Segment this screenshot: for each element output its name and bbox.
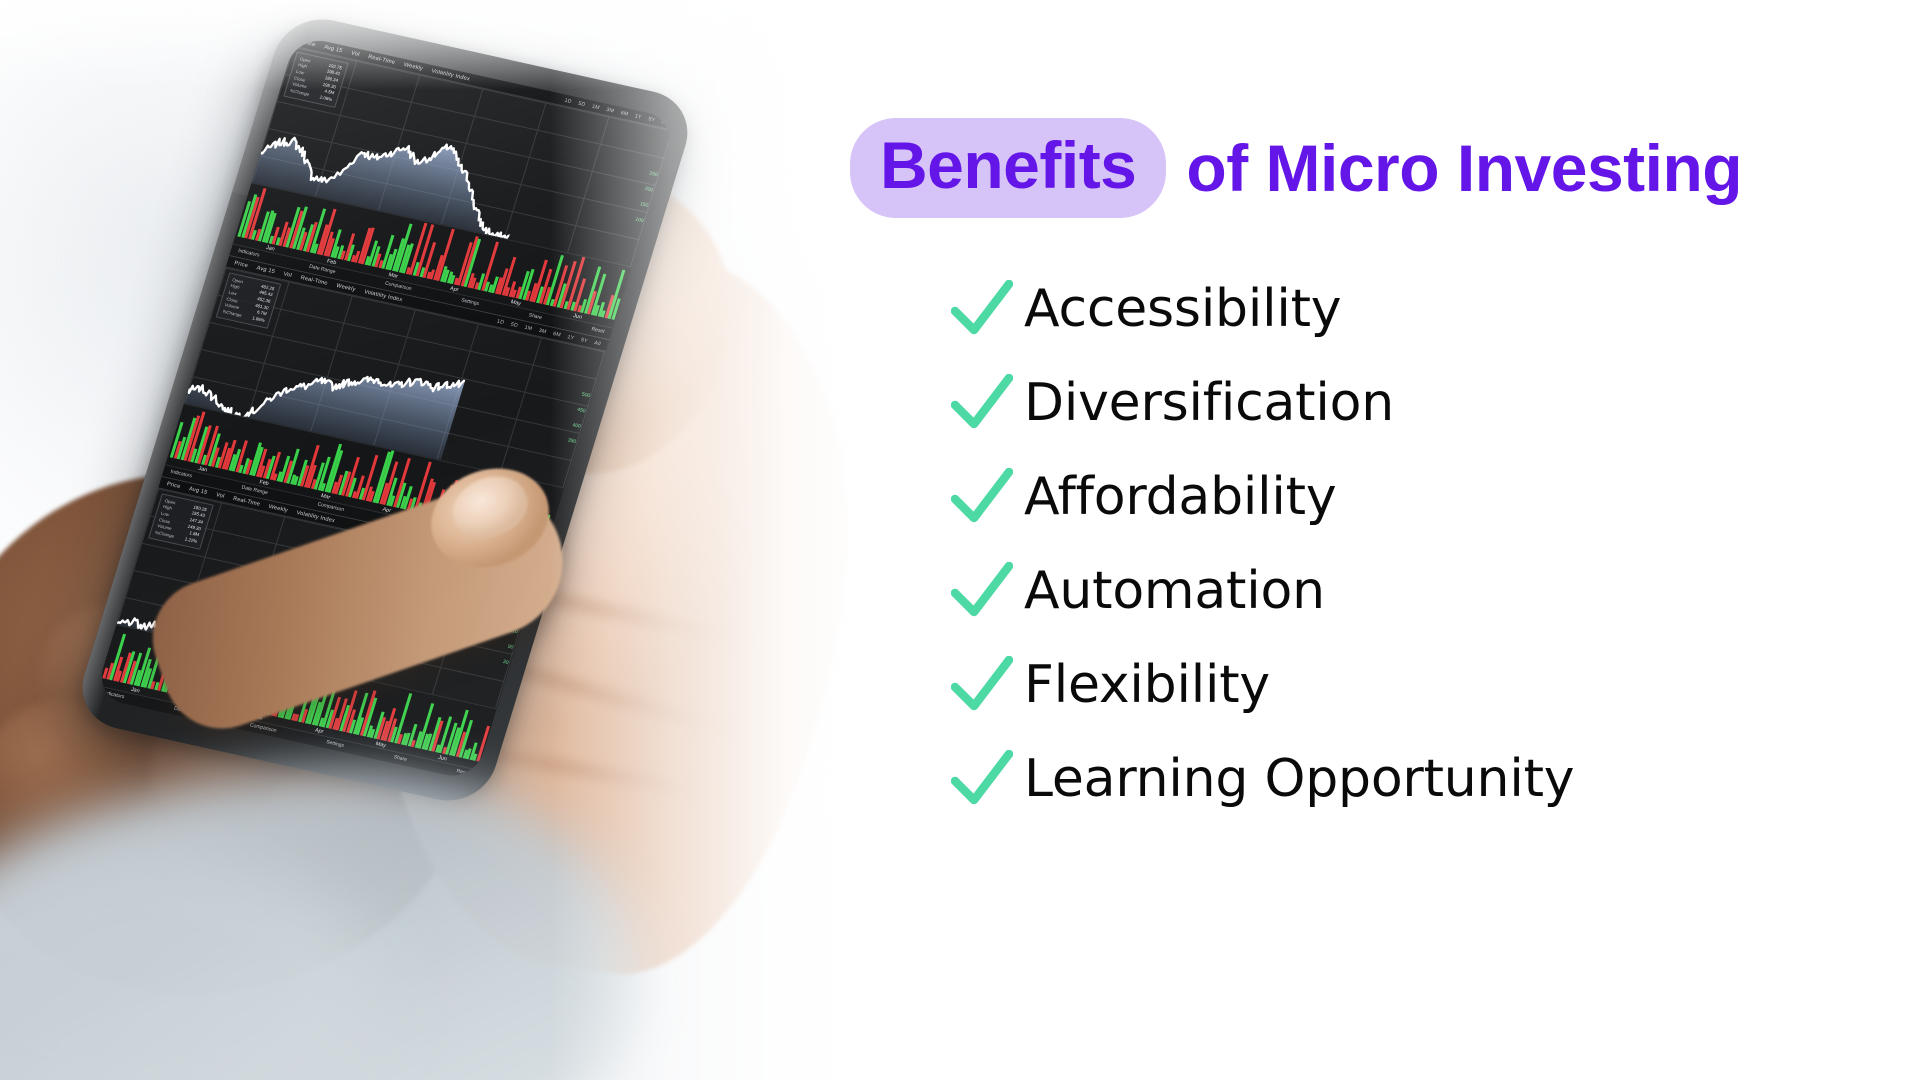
check-icon — [940, 374, 1024, 432]
y-tick: 200 — [644, 186, 654, 194]
check-icon — [940, 562, 1024, 620]
stat-value: 1.86% — [251, 315, 265, 324]
timeframe-5d[interactable]: 5D — [577, 101, 586, 108]
y-tick: 500 — [581, 391, 591, 399]
bottom-item-settings[interactable]: Settings — [460, 297, 479, 307]
timeframe-1m[interactable]: 1M — [591, 104, 600, 111]
toolbar-item-vol[interactable]: Vol — [215, 492, 225, 500]
list-item[interactable]: Accessibility — [940, 262, 1890, 356]
toolbar-item-vol[interactable]: Vol — [350, 50, 360, 58]
list-item[interactable]: Automation — [940, 544, 1890, 638]
timeframe-1y[interactable]: 1Y — [634, 113, 642, 120]
timeframe-all[interactable]: All — [593, 340, 601, 347]
timeframe-1d[interactable]: 1D — [564, 98, 573, 105]
bottom-item-share[interactable]: Share — [528, 312, 543, 321]
bottom-item-settings[interactable]: Settings — [325, 739, 344, 749]
y-tick: 30 — [502, 659, 509, 666]
y-tick: 350 — [567, 437, 577, 445]
toolbar-item-avg[interactable]: Avg 15 — [323, 44, 343, 54]
y-tick: 250 — [649, 170, 659, 178]
check-icon — [940, 656, 1024, 714]
timeframe-3m[interactable]: 3M — [538, 328, 547, 335]
timeframe-1d[interactable]: 1D — [496, 319, 505, 326]
badge-label: Benefits — [880, 128, 1136, 202]
stat-value: 1.22% — [184, 536, 198, 545]
timeframe-3m[interactable]: 3M — [605, 107, 614, 114]
volume-bar — [476, 725, 490, 761]
toolbar-item-avg[interactable]: Avg 15 — [256, 265, 276, 275]
toolbar-item-weekly[interactable]: Weekly — [335, 283, 356, 293]
bottom-item-indicators[interactable]: Indicators — [237, 248, 260, 258]
bottom-item-reset[interactable]: Reset — [456, 768, 471, 777]
timeframe-6m[interactable]: 6M — [620, 110, 629, 117]
content-panel: Benefits of Micro Investing Accessibilit… — [830, 0, 1920, 1080]
toolbar-item-avg[interactable]: Avg 15 — [188, 486, 208, 496]
photo-panel: Price Avg 15 Vol Real-Time Weekly Volati… — [0, 0, 880, 1080]
timeframe-6m[interactable]: 6M — [552, 331, 561, 338]
list-item-label: Diversification — [1024, 373, 1394, 433]
title-badge: Benefits — [850, 118, 1166, 218]
list-item[interactable]: Diversification — [940, 356, 1890, 450]
bottom-item-reset[interactable]: Reset — [591, 326, 606, 335]
list-item-label: Affordability — [1024, 467, 1336, 527]
list-item[interactable]: Flexibility — [940, 638, 1890, 732]
bottom-item-indicators[interactable]: Indicators — [170, 469, 193, 479]
list-item[interactable]: Affordability — [940, 450, 1890, 544]
y-tick: 100 — [634, 216, 644, 224]
bottom-item-comparison[interactable]: Comparison — [249, 722, 277, 734]
timeframe-1y[interactable]: 1Y — [567, 334, 575, 341]
stat-value: 2.08% — [319, 94, 333, 103]
timeframe-all[interactable]: All — [661, 119, 669, 126]
timeframe-1m[interactable]: 1M — [524, 325, 533, 332]
y-tick: 450 — [576, 407, 586, 415]
y-tick: 400 — [572, 422, 582, 430]
check-icon — [940, 468, 1024, 526]
poster-canvas: Price Avg 15 Vol Real-Time Weekly Volati… — [0, 0, 1920, 1080]
list-item-label: Learning Opportunity — [1024, 749, 1574, 809]
list-item-label: Automation — [1024, 561, 1325, 621]
list-item[interactable]: Learning Opportunity — [940, 732, 1890, 826]
check-icon — [940, 750, 1024, 808]
y-tick: 90 — [507, 644, 514, 651]
page-title: Benefits of Micro Investing — [850, 118, 1742, 218]
toolbar-item-price[interactable]: Price — [301, 39, 316, 48]
benefits-list: Accessibility Diversification Affordabil… — [940, 262, 1890, 826]
timeframe-5y[interactable]: 5Y — [580, 337, 588, 344]
toolbar-item-vol[interactable]: Vol — [283, 271, 293, 279]
timeframe-5d[interactable]: 5D — [510, 322, 519, 329]
toolbar-item-weekly[interactable]: Weekly — [403, 62, 424, 72]
y-tick: 150 — [639, 201, 649, 209]
title-rest: of Micro Investing — [1186, 135, 1742, 201]
bottom-item-indicators[interactable]: Indicators — [102, 690, 125, 700]
toolbar-item-weekly[interactable]: Weekly — [268, 504, 289, 514]
toolbar-item-price[interactable]: Price — [166, 481, 181, 490]
check-icon — [940, 280, 1024, 338]
toolbar-item-price[interactable]: Price — [233, 260, 248, 269]
list-item-label: Flexibility — [1024, 655, 1270, 715]
bottom-item-share[interactable]: Share — [393, 754, 408, 763]
timeframe-5y[interactable]: 5Y — [648, 116, 656, 123]
list-item-label: Accessibility — [1024, 279, 1341, 339]
